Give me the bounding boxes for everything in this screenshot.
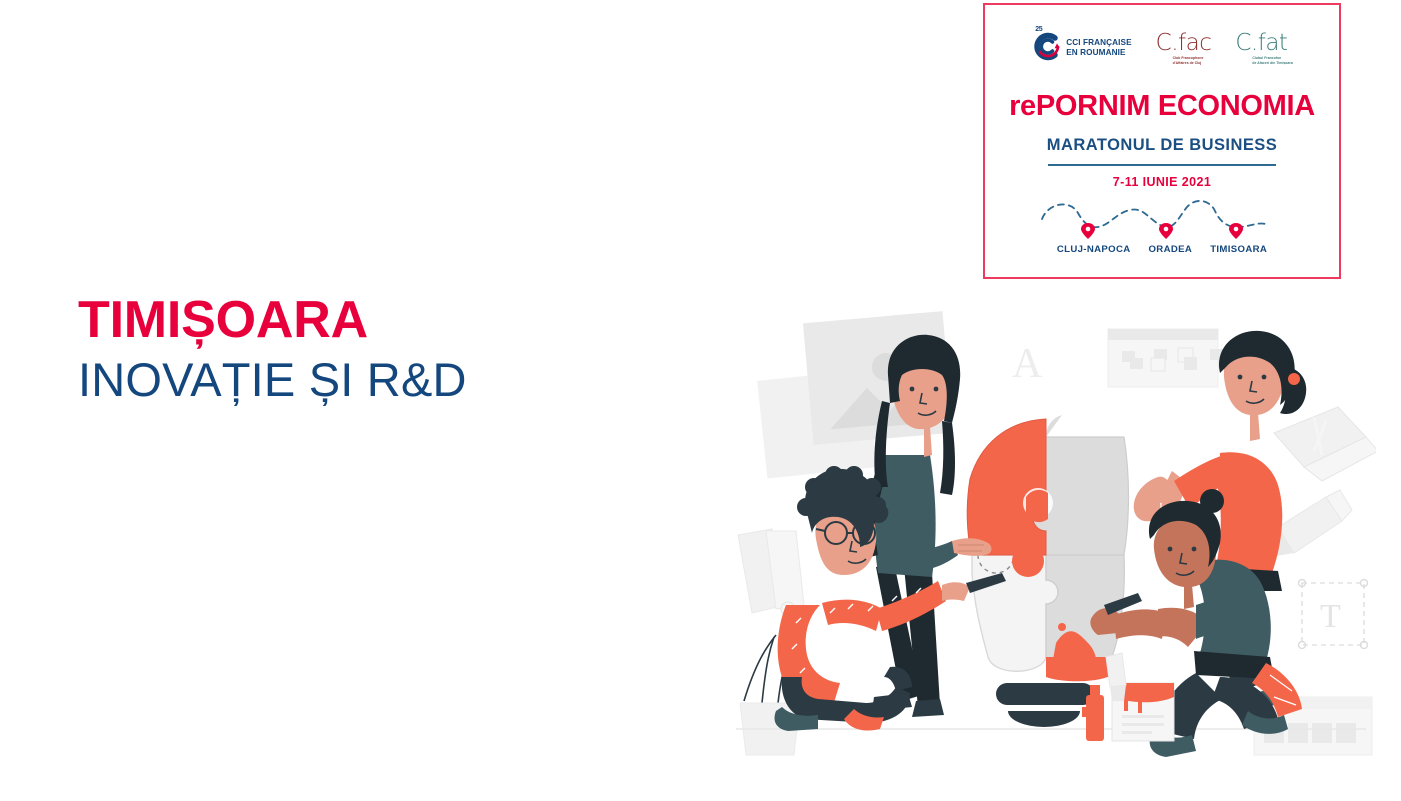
headline-block: TIMIȘOARA INOVAȚIE ȘI R&D — [78, 293, 467, 406]
right-person-shirt — [1216, 452, 1282, 573]
bulb-base-bottom — [1008, 711, 1080, 727]
prop-letter-a: A — [1012, 341, 1043, 387]
svg-text:A: A — [1012, 341, 1043, 387]
route-city-labels: CLUJ-NAPOCA ORADEA TIMISOARA — [1057, 244, 1267, 255]
map-pin-oradea-icon — [1159, 223, 1173, 239]
logo-cci-francaise-en-roumanie: 25 CCI FRANÇAISE EN ROUMANIE — [1031, 30, 1131, 62]
event-card: 25 CCI FRANÇAISE EN ROUMANIE — [983, 3, 1341, 279]
puzzle-piece-top-left — [967, 419, 1046, 555]
map-pin-timisoara-icon — [1229, 223, 1243, 239]
cci-logo-line2: EN ROUMANIE — [1066, 48, 1131, 58]
logo-cfac: C.fac Club Francophone d'Affaires de Clu… — [1156, 30, 1212, 66]
city-label-timisoara: TIMISOARA — [1210, 244, 1267, 255]
lightbulb-puzzle — [967, 415, 1128, 727]
cfac-subtitle-line2: d'Affaires de Cluj — [1173, 61, 1204, 66]
cfac-subtitle: Club Francophone d'Affaires de Cluj — [1173, 56, 1204, 66]
bun-person-top-knot — [1200, 489, 1224, 513]
illustration-team-puzzle: .g1{fill:#e9e9e9}.g2{fill:#f1f1f1}.g3{fi… — [726, 305, 1376, 765]
slide-root: 25 CCI FRANÇAISE EN ROUMANIE — [0, 0, 1401, 801]
cfat-wordmark: C.fat — [1235, 32, 1287, 55]
card-divider — [1048, 164, 1276, 165]
logo-cfat: C.fat Clubul Francofon de Afaceri din Ti… — [1235, 30, 1292, 66]
puzzle-piece-bottom-left — [972, 555, 1058, 671]
event-title: rePORNIM ECONOMIA — [1009, 92, 1315, 121]
cci-c-mark-icon: 25 — [1031, 30, 1063, 62]
cci-logo-line1: CCI FRANÇAISE — [1066, 38, 1131, 48]
event-dates: 7-11 IUNIE 2021 — [1113, 175, 1211, 189]
city-label-cluj-napoca: CLUJ-NAPOCA — [1057, 244, 1131, 255]
cfac-wordmark: C.fac — [1156, 32, 1212, 55]
headline-city: TIMIȘOARA — [78, 293, 467, 348]
event-subtitle: MARATONUL DE BUSINESS — [1047, 136, 1277, 155]
prop-laptop — [1274, 407, 1376, 481]
cci-anniversary-label: 25 — [1035, 26, 1042, 33]
svg-text:T: T — [1320, 598, 1341, 635]
cfat-subtitle-line2: de Afaceri din Timișoara — [1252, 61, 1292, 66]
bulb-base-top — [996, 683, 1094, 705]
prop-window-panel — [1108, 329, 1230, 387]
cfat-subtitle: Clubul Francofon de Afaceri din Timișoar… — [1252, 56, 1292, 66]
partner-logo-row: 25 CCI FRANÇAISE EN ROUMANIE — [985, 30, 1339, 66]
route-map — [1012, 197, 1312, 243]
prop-brush — [1106, 653, 1126, 701]
right-person-hair-tie — [1288, 373, 1300, 385]
prop-color-swatch-fan — [738, 529, 804, 616]
headline-theme: INOVAȚIE ȘI R&D — [78, 354, 467, 406]
city-label-oradea: ORADEA — [1149, 244, 1193, 255]
cci-logo-text: CCI FRANÇAISE EN ROUMANIE — [1066, 34, 1131, 57]
map-pin-cluj-icon — [1081, 223, 1095, 239]
prop-text-tool-box: T — [1299, 580, 1368, 649]
prop-pencil — [1270, 490, 1352, 557]
